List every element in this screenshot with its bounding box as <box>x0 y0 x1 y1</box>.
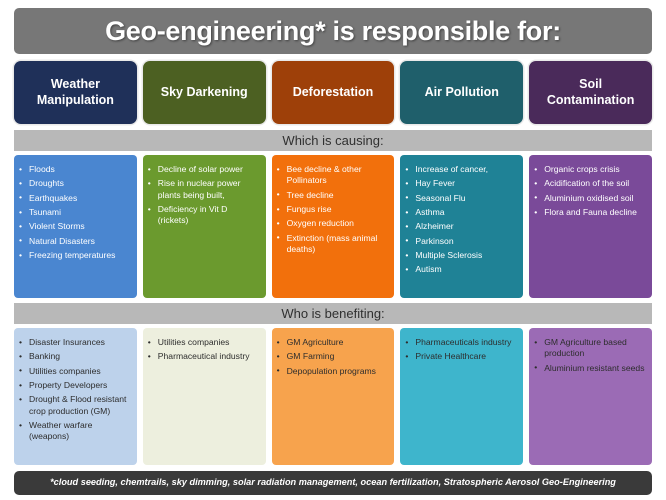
list-item: Fungus rise <box>277 204 389 215</box>
list-item: Depopulation programs <box>277 366 389 377</box>
category-header-label: Deforestation <box>293 85 374 100</box>
footnote-text: *cloud seeding, chemtrails, sky dimming,… <box>44 478 622 487</box>
list-item: Private Healthcare <box>405 351 517 362</box>
list-item: Earthquakes <box>19 193 131 204</box>
list-item: Acidification of the soil <box>534 178 646 189</box>
benefits-panel: GM AgricultureGM FarmingDepopulation pro… <box>272 328 395 465</box>
list-item: Floods <box>19 164 131 175</box>
list-item: Increase of cancer, <box>405 164 517 175</box>
category-header-label: Soil Contamination <box>534 77 647 108</box>
list-item: GM Farming <box>277 351 389 362</box>
category-header-card[interactable]: Air Pollution <box>400 61 523 124</box>
benefits-list: GM Agriculture based productionAluminium… <box>534 337 646 374</box>
list-item: GM Agriculture based production <box>534 337 646 360</box>
category-header-row: Weather ManipulationSky DarkeningDefores… <box>14 61 652 124</box>
list-item: Property Developers <box>19 380 131 391</box>
list-item: Drought & Flood resistant crop productio… <box>19 394 131 417</box>
list-item: Droughts <box>19 178 131 189</box>
section-banner-benefits-label: Who is benefiting: <box>281 307 384 320</box>
list-item: Banking <box>19 351 131 362</box>
causes-list: Increase of cancer,Hay FeverSeasonal Flu… <box>405 164 517 276</box>
list-item: Asthma <box>405 207 517 218</box>
list-item: Autism <box>405 264 517 275</box>
benefits-row: Disaster InsurancesBankingUtilities comp… <box>14 328 652 465</box>
causes-panel: FloodsDroughtsEarthquakesTsunamiViolent … <box>14 155 137 298</box>
list-item: Oxygen reduction <box>277 218 389 229</box>
benefits-panel: GM Agriculture based productionAluminium… <box>529 328 652 465</box>
infographic-poster: Geo-engineering* is responsible for: Wea… <box>0 0 666 500</box>
list-item: Freezing temperatures <box>19 250 131 261</box>
list-item: Multiple Sclerosis <box>405 250 517 261</box>
section-banner-causes: Which is causing: <box>14 130 652 151</box>
list-item: Deficiency in Vit D (rickets) <box>148 204 260 227</box>
category-header-card[interactable]: Weather Manipulation <box>14 61 137 124</box>
list-item: Utilities companies <box>19 366 131 377</box>
causes-list: Decline of solar powerRise in nuclear po… <box>148 164 260 227</box>
list-item: Aluminium oxidised soil <box>534 193 646 204</box>
causes-row: FloodsDroughtsEarthquakesTsunamiViolent … <box>14 155 652 298</box>
causes-panel: Bee decline & other PollinatorsTree decl… <box>272 155 395 298</box>
list-item: Bee decline & other Pollinators <box>277 164 389 187</box>
benefits-list: GM AgricultureGM FarmingDepopulation pro… <box>277 337 389 377</box>
list-item: Disaster Insurances <box>19 337 131 348</box>
list-item: Parkinson <box>405 236 517 247</box>
category-header-label: Air Pollution <box>425 85 499 100</box>
causes-panel: Decline of solar powerRise in nuclear po… <box>143 155 266 298</box>
list-item: Violent Storms <box>19 221 131 232</box>
list-item: Decline of solar power <box>148 164 260 175</box>
list-item: Natural Disasters <box>19 236 131 247</box>
list-item: Utilities companies <box>148 337 260 348</box>
list-item: Rise in nuclear power plants being built… <box>148 178 260 201</box>
causes-list: Organic crops crisisAcidification of the… <box>534 164 646 218</box>
list-item: Seasonal Flu <box>405 193 517 204</box>
section-banner-causes-label: Which is causing: <box>282 134 383 147</box>
list-item: Aluminium resistant seeds <box>534 363 646 374</box>
category-header-label: Sky Darkening <box>161 85 248 100</box>
benefits-list: Utilities companiesPharmaceutical indust… <box>148 337 260 363</box>
section-banner-benefits: Who is benefiting: <box>14 303 652 324</box>
benefits-panel: Utilities companiesPharmaceutical indust… <box>143 328 266 465</box>
page-title: Geo-engineering* is responsible for: <box>105 18 561 45</box>
list-item: Pharmaceuticals industry <box>405 337 517 348</box>
causes-panel: Increase of cancer,Hay FeverSeasonal Flu… <box>400 155 523 298</box>
benefits-panel: Pharmaceuticals industryPrivate Healthca… <box>400 328 523 465</box>
causes-list: FloodsDroughtsEarthquakesTsunamiViolent … <box>19 164 131 261</box>
category-header-card[interactable]: Soil Contamination <box>529 61 652 124</box>
causes-list: Bee decline & other PollinatorsTree decl… <box>277 164 389 255</box>
list-item: Flora and Fauna decline <box>534 207 646 218</box>
category-header-card[interactable]: Deforestation <box>272 61 395 124</box>
footnote-bar: *cloud seeding, chemtrails, sky dimming,… <box>14 471 652 495</box>
benefits-list: Pharmaceuticals industryPrivate Healthca… <box>405 337 517 363</box>
list-item: Weather warfare (weapons) <box>19 420 131 443</box>
list-item: Tsunami <box>19 207 131 218</box>
poster-title-bar: Geo-engineering* is responsible for: <box>14 8 652 54</box>
list-item: Organic crops crisis <box>534 164 646 175</box>
benefits-panel: Disaster InsurancesBankingUtilities comp… <box>14 328 137 465</box>
list-item: Hay Fever <box>405 178 517 189</box>
causes-panel: Organic crops crisisAcidification of the… <box>529 155 652 298</box>
category-header-card[interactable]: Sky Darkening <box>143 61 266 124</box>
list-item: Alzheimer <box>405 221 517 232</box>
list-item: Tree decline <box>277 190 389 201</box>
category-header-label: Weather Manipulation <box>19 77 132 108</box>
list-item: Pharmaceutical industry <box>148 351 260 362</box>
benefits-list: Disaster InsurancesBankingUtilities comp… <box>19 337 131 443</box>
list-item: GM Agriculture <box>277 337 389 348</box>
list-item: Extinction (mass animal deaths) <box>277 233 389 256</box>
